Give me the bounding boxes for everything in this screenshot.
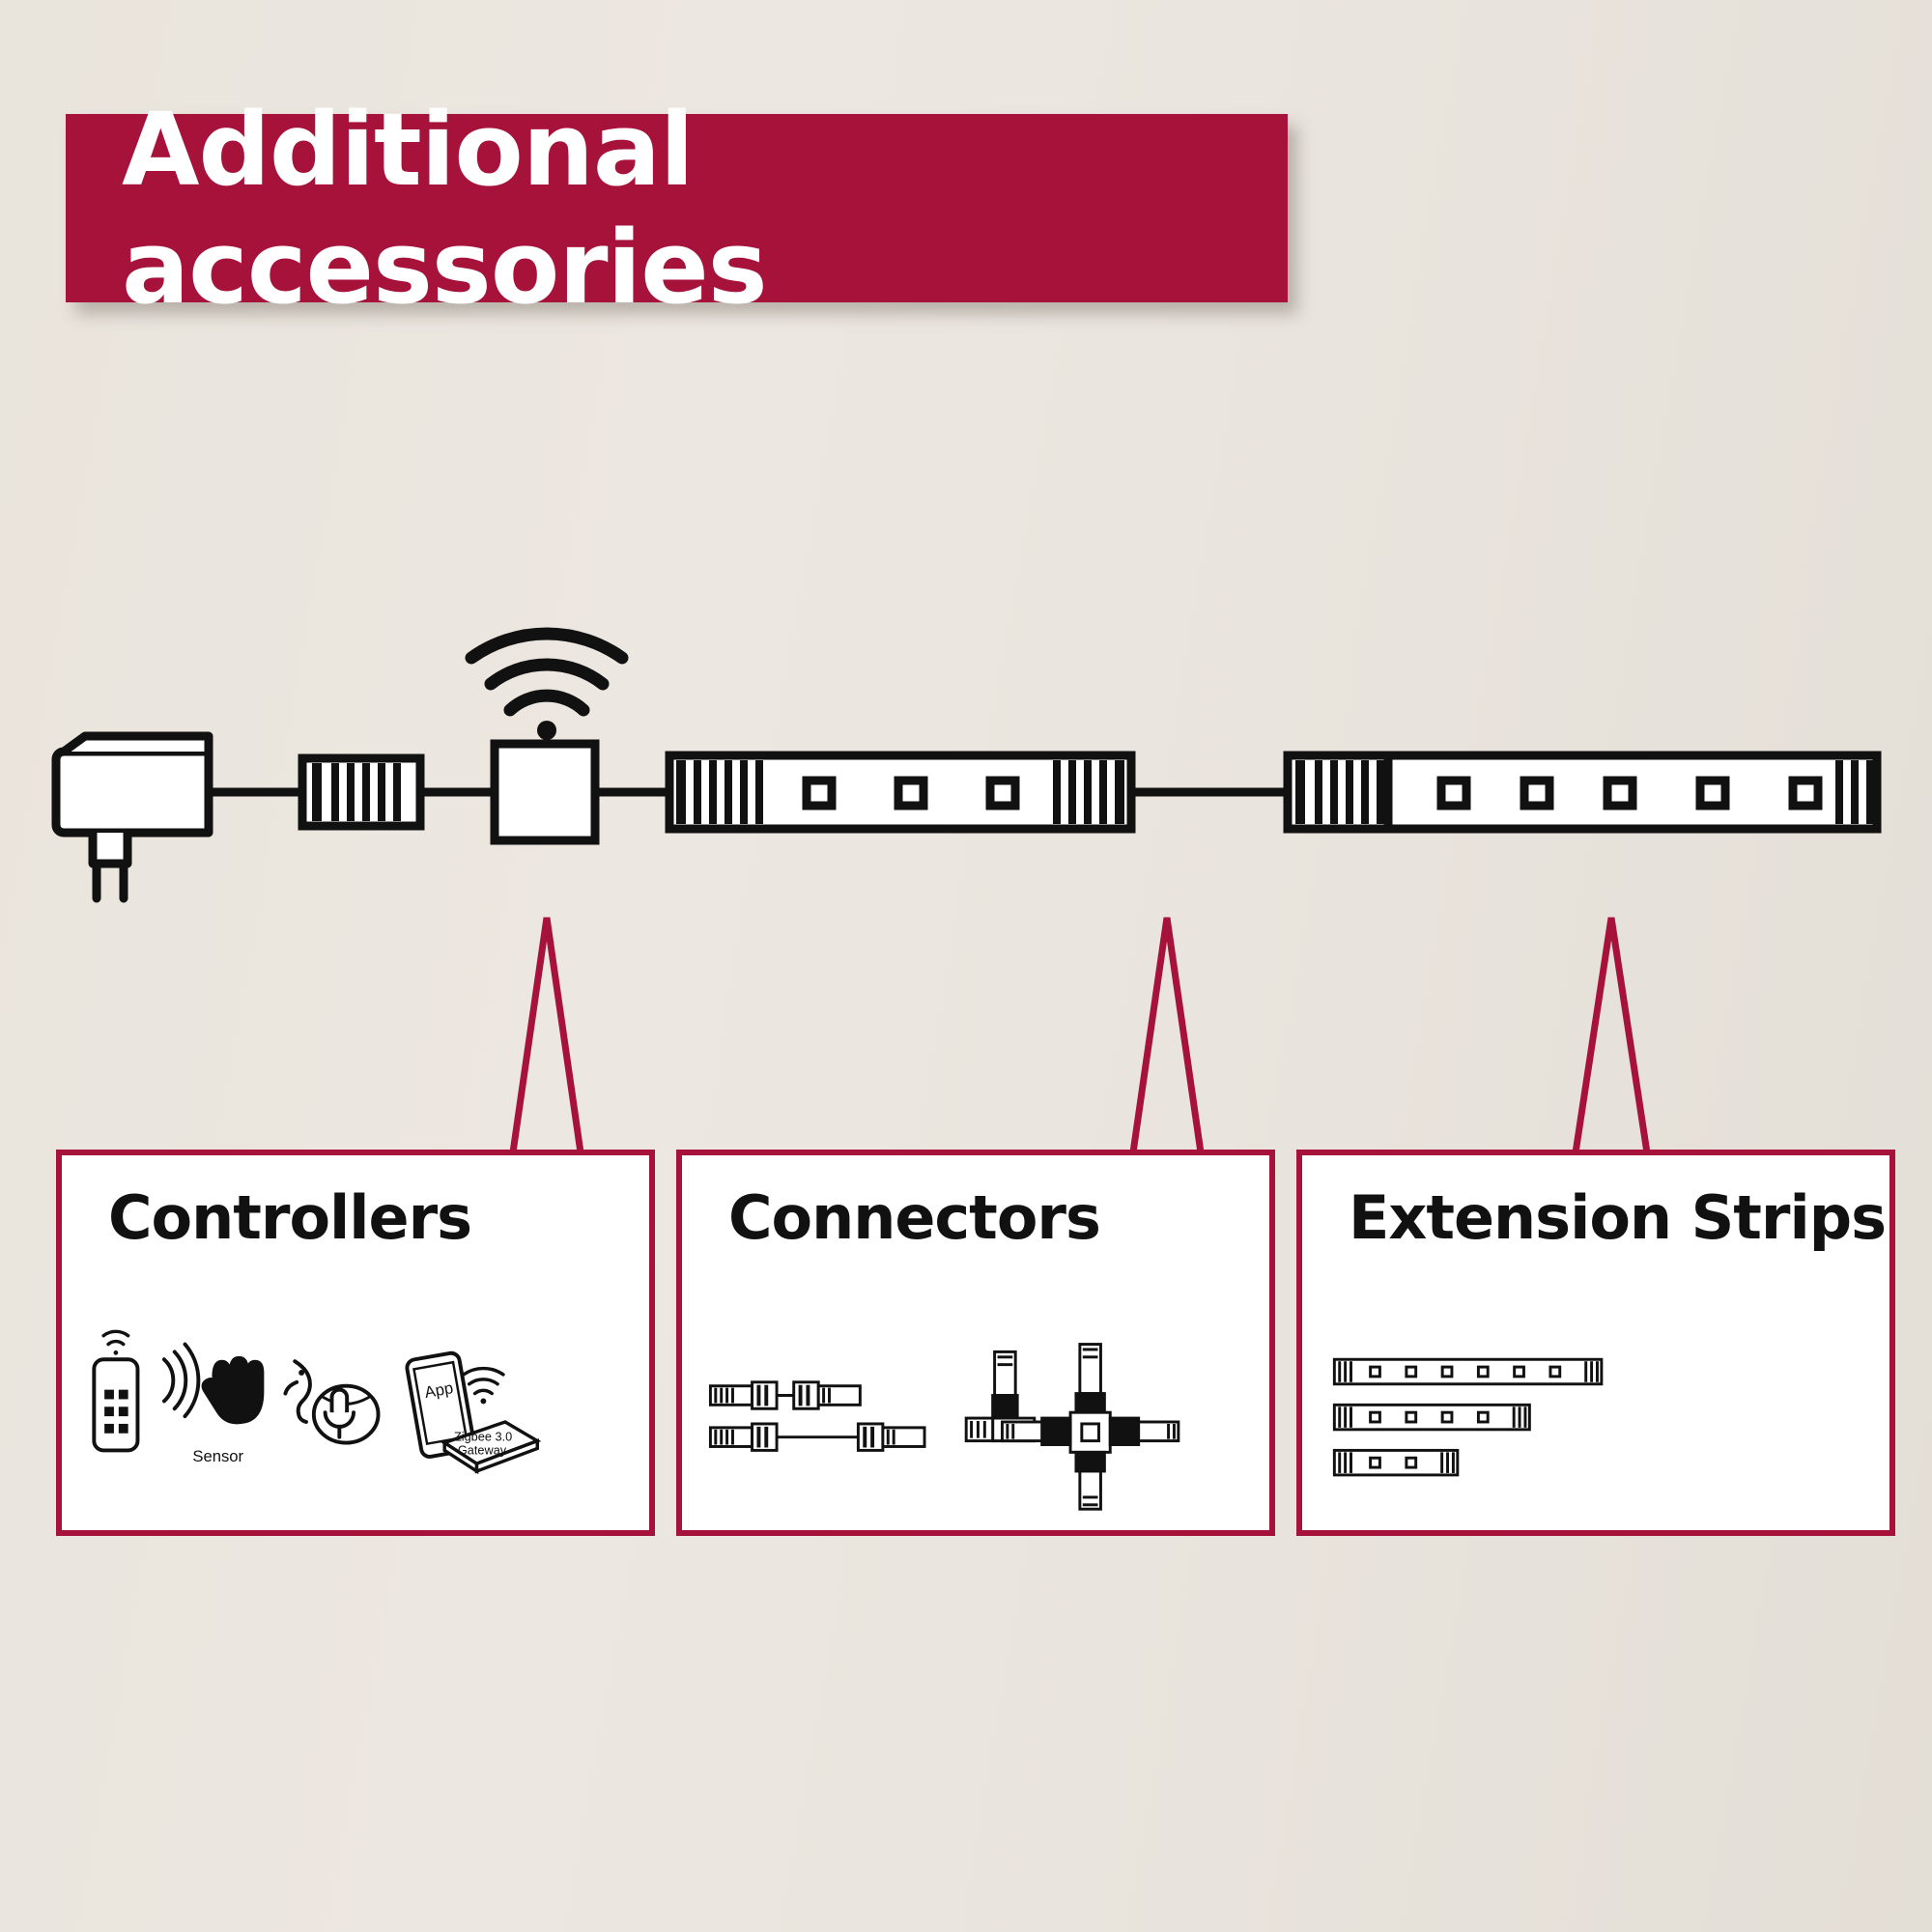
extension-strip-short-icon [1334, 1450, 1457, 1474]
card-title-controllers: Controllers [108, 1182, 471, 1253]
pointer-controllers [512, 918, 582, 1159]
cross-connector-icon [1002, 1345, 1178, 1510]
wireless-controller-box-icon [495, 744, 595, 840]
connectors-icon-row [682, 1300, 1269, 1542]
card-title-extensions: Extension Strips [1349, 1182, 1886, 1253]
card-title-connectors: Connectors [728, 1182, 1100, 1253]
wifi-signal-icon [471, 634, 622, 740]
zigbee-gateway-icon: Zigbee 3.0 Gateway [444, 1422, 537, 1471]
card-connectors[interactable]: Connectors [676, 1150, 1275, 1536]
remote-control-icon [94, 1331, 137, 1450]
controllers-icon-row: Sensor App [62, 1300, 649, 1542]
system-diagram [0, 0, 1932, 1932]
card-controllers[interactable]: Controllers [56, 1150, 655, 1536]
motion-sensor-hand-icon: Sensor [164, 1345, 263, 1466]
strip-to-strip-cable-connector-icon [710, 1382, 924, 1451]
power-supply-plug-icon [56, 736, 209, 898]
led-strip-extension-icon [1388, 755, 1877, 829]
sensor-caption: Sensor [192, 1447, 243, 1465]
led-strip-segment-icon [669, 755, 1131, 829]
hand-glyph [203, 1357, 263, 1423]
extension-strip-medium-icon [1334, 1405, 1529, 1429]
pointer-connectors [1132, 918, 1202, 1159]
gateway-caption-line1: Zigbee 3.0 [454, 1430, 512, 1444]
card-extensions[interactable]: Extension Strips [1296, 1150, 1895, 1536]
extension-strip-long-icon [1334, 1359, 1602, 1383]
pointer-extensions [1575, 918, 1648, 1159]
strip-connector-icon-1 [302, 758, 420, 826]
extension-strips-icon-row [1302, 1300, 1889, 1542]
voice-assistant-icon [285, 1361, 378, 1442]
gateway-caption-line2: Gateway [458, 1442, 507, 1457]
